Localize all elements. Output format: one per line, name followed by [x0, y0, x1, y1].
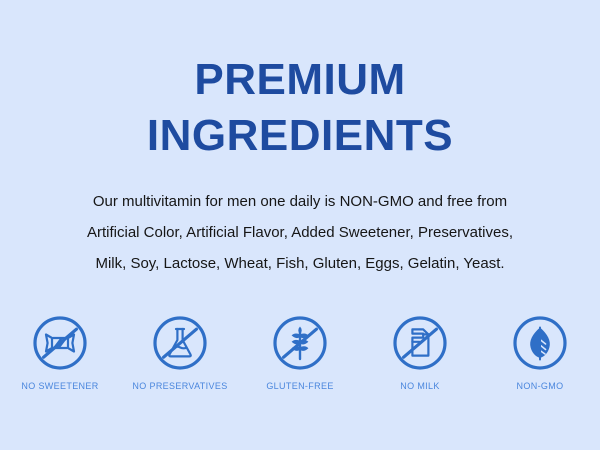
- badge-no-preservatives: NO PRESERVATIVES: [124, 313, 236, 391]
- badge-label: NO PRESERVATIVES: [132, 381, 227, 391]
- badge-non-gmo: NON-GMO: [484, 313, 596, 391]
- flask-icon: [150, 313, 210, 373]
- leaf-icon: [510, 313, 570, 373]
- badge-no-sweetener: NO SWEETENER: [4, 313, 116, 391]
- page-title: PREMIUM INGREDIENTS: [147, 0, 453, 164]
- badge-no-milk: NO MILK: [364, 313, 476, 391]
- candy-icon: [30, 313, 90, 373]
- badge-label: GLUTEN-FREE: [266, 381, 333, 391]
- certification-badge-row: NO SWEETENER NO PRESERVATIVES: [0, 313, 600, 391]
- badge-label: NO MILK: [400, 381, 439, 391]
- description-line-1: Our multivitamin for men one daily is NO…: [20, 186, 580, 217]
- wheat-icon: [270, 313, 330, 373]
- milk-carton-icon: [390, 313, 450, 373]
- description-line-3: Milk, Soy, Lactose, Wheat, Fish, Gluten,…: [20, 248, 580, 279]
- description-text: Our multivitamin for men one daily is NO…: [20, 164, 580, 279]
- page-title-line-2: INGREDIENTS: [147, 108, 453, 164]
- premium-ingredients-panel: PREMIUM INGREDIENTS Our multivitamin for…: [0, 0, 600, 450]
- badge-label: NO SWEETENER: [21, 381, 98, 391]
- badge-label: NON-GMO: [517, 381, 564, 391]
- badge-gluten-free: GLUTEN-FREE: [244, 313, 356, 391]
- description-line-2: Artificial Color, Artificial Flavor, Add…: [20, 217, 580, 248]
- page-title-line-1: PREMIUM: [147, 52, 453, 108]
